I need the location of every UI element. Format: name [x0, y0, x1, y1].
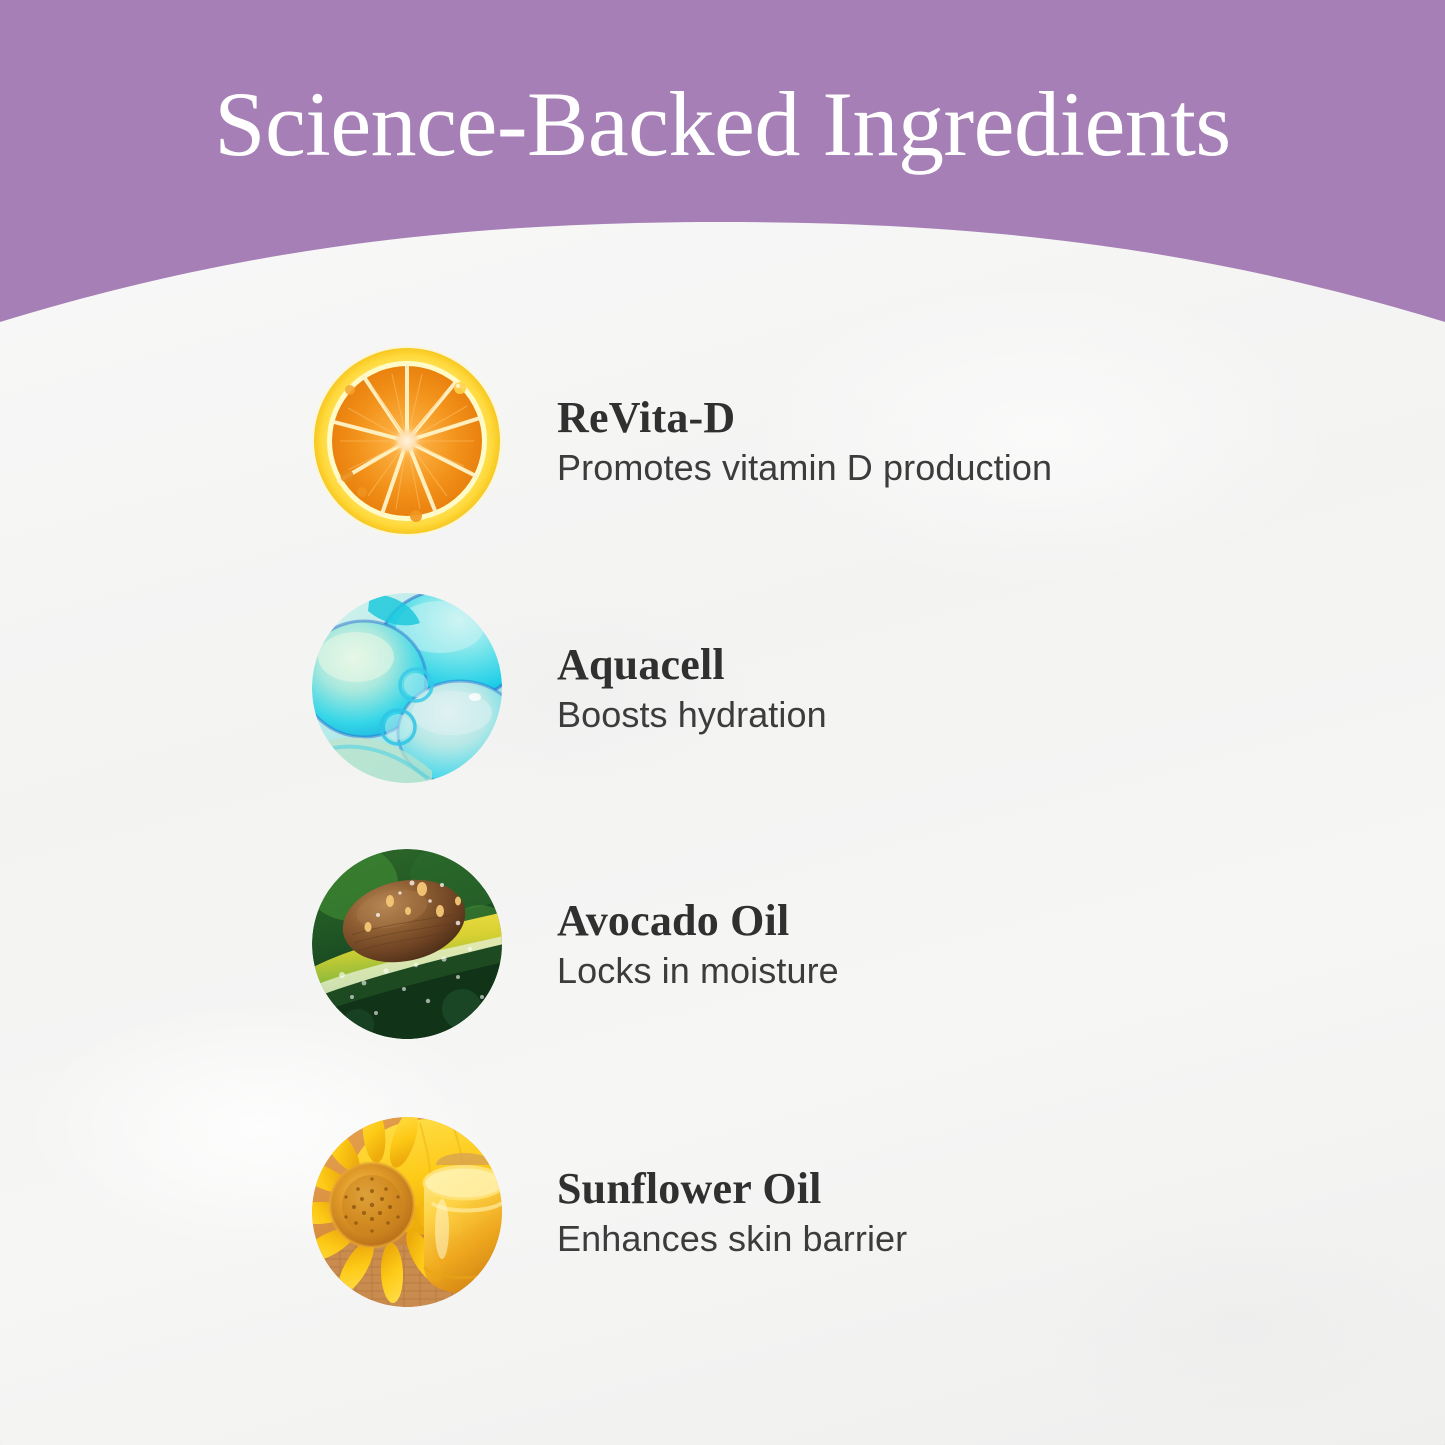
ingredient-description: Promotes vitamin D production [557, 447, 1052, 488]
ingredient-name: Sunflower Oil [557, 1165, 907, 1213]
ingredient-text-block: Avocado Oil Locks in moisture [557, 897, 839, 992]
sunflower-oil-image [312, 1117, 502, 1307]
ingredients-infographic: Science-Backed Ingredients [0, 0, 1445, 1445]
ingredient-description: Enhances skin barrier [557, 1218, 907, 1259]
ingredient-name: ReVita-D [557, 394, 1052, 442]
water-bubbles-image [312, 593, 502, 783]
ingredient-name: Aquacell [557, 641, 827, 689]
ingredient-text-block: ReVita-D Promotes vitamin D production [557, 394, 1052, 489]
ingredient-item-avocado-oil: Avocado Oil Locks in moisture [312, 849, 1312, 1039]
ingredient-name: Avocado Oil [557, 897, 839, 945]
ingredient-item-revita-d: ReVita-D Promotes vitamin D production [312, 346, 1312, 536]
ingredient-item-aquacell: Aquacell Boosts hydration [312, 593, 1312, 783]
ingredient-item-sunflower-oil: Sunflower Oil Enhances skin barrier [312, 1117, 1312, 1307]
ingredient-description: Boosts hydration [557, 694, 827, 735]
page-title: Science-Backed Ingredients [0, 78, 1445, 170]
ingredient-text-block: Aquacell Boosts hydration [557, 641, 827, 736]
orange-slice-image [312, 346, 502, 536]
ingredient-description: Locks in moisture [557, 950, 839, 991]
avocado-image [312, 849, 502, 1039]
header-band: Science-Backed Ingredients [0, 0, 1445, 340]
ingredient-text-block: Sunflower Oil Enhances skin barrier [557, 1165, 907, 1260]
